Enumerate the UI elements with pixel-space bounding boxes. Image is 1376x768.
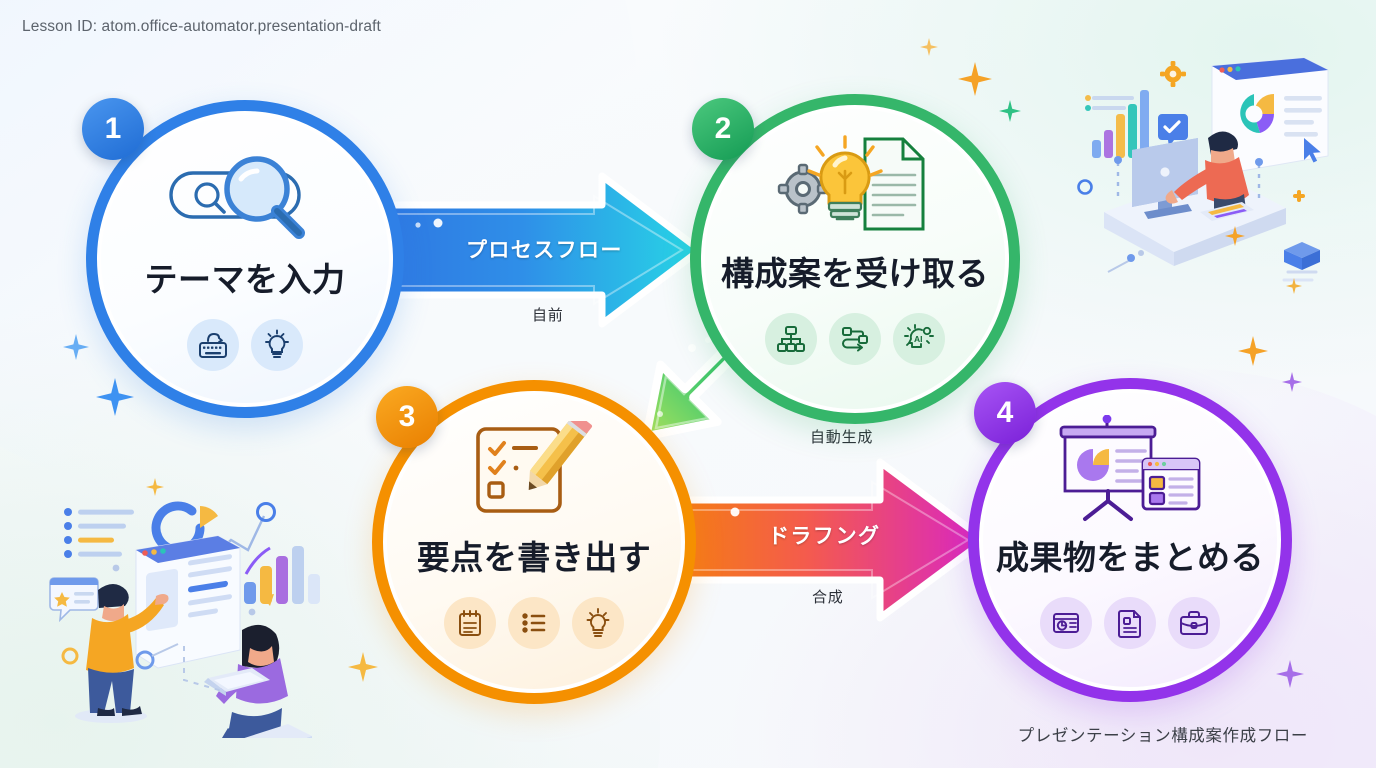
step-1-title: テーマを入力 bbox=[145, 253, 346, 301]
step-3-sub-icons bbox=[444, 597, 624, 649]
step-4-badge: 4 bbox=[974, 382, 1036, 444]
step-2-badge: 2 bbox=[692, 98, 754, 160]
flow-caption: プレゼンテーション構成案作成フロー bbox=[1018, 722, 1308, 746]
lightbulb-icon[interactable] bbox=[251, 319, 303, 371]
ai-brain-icon[interactable]: AI bbox=[893, 313, 945, 365]
flow-diagram-canvas: Lesson ID: atom.office-automator.present… bbox=[0, 0, 1376, 768]
bullet-list-icon[interactable] bbox=[508, 597, 560, 649]
checklist-pencil-icon bbox=[470, 421, 598, 521]
step-2-sub-icons: AI bbox=[765, 313, 945, 365]
step-2-title: 構成案を受け取る bbox=[721, 247, 989, 295]
lightbulb-icon[interactable] bbox=[572, 597, 624, 649]
magnifier-search-icon bbox=[165, 153, 325, 241]
slide-chart-icon[interactable] bbox=[1040, 597, 1092, 649]
document-icon[interactable] bbox=[1104, 597, 1156, 649]
arrow-label-process-flow: プロセスフロー bbox=[466, 234, 623, 264]
keyboard-icon[interactable] bbox=[187, 319, 239, 371]
arrow-sublabel-step2-step3: 自動生成 bbox=[810, 426, 873, 447]
arrow-sublabel-step3-step4: 合成 bbox=[812, 586, 844, 607]
step-1-sub-icons bbox=[187, 319, 303, 371]
hierarchy-icon[interactable] bbox=[765, 313, 817, 365]
presentation-board-icon bbox=[1055, 415, 1205, 523]
step-node-4[interactable]: 成果物をまとめる bbox=[968, 378, 1292, 702]
lightbulb-gear-document-icon bbox=[773, 135, 937, 239]
step-node-2[interactable]: 構成案を受け取る bbox=[690, 94, 1020, 424]
step-3-title: 要点を書き出す bbox=[417, 531, 652, 579]
step-3-badge: 3 bbox=[376, 386, 438, 448]
step-node-3[interactable]: 要点を書き出す bbox=[372, 380, 696, 704]
arrow-sublabel-step1-step2: 自前 bbox=[532, 304, 564, 325]
flow-path-icon[interactable] bbox=[829, 313, 881, 365]
step-4-title: 成果物をまとめる bbox=[996, 531, 1264, 579]
step-4-sub-icons bbox=[1040, 597, 1220, 649]
step-node-1[interactable]: テーマを入力 bbox=[86, 100, 404, 418]
briefcase-icon[interactable] bbox=[1168, 597, 1220, 649]
svg-text:AI: AI bbox=[914, 334, 923, 344]
notepad-icon[interactable] bbox=[444, 597, 496, 649]
step-1-badge: 1 bbox=[82, 98, 144, 160]
arrow-label-drafting: ドラフング bbox=[768, 520, 880, 550]
